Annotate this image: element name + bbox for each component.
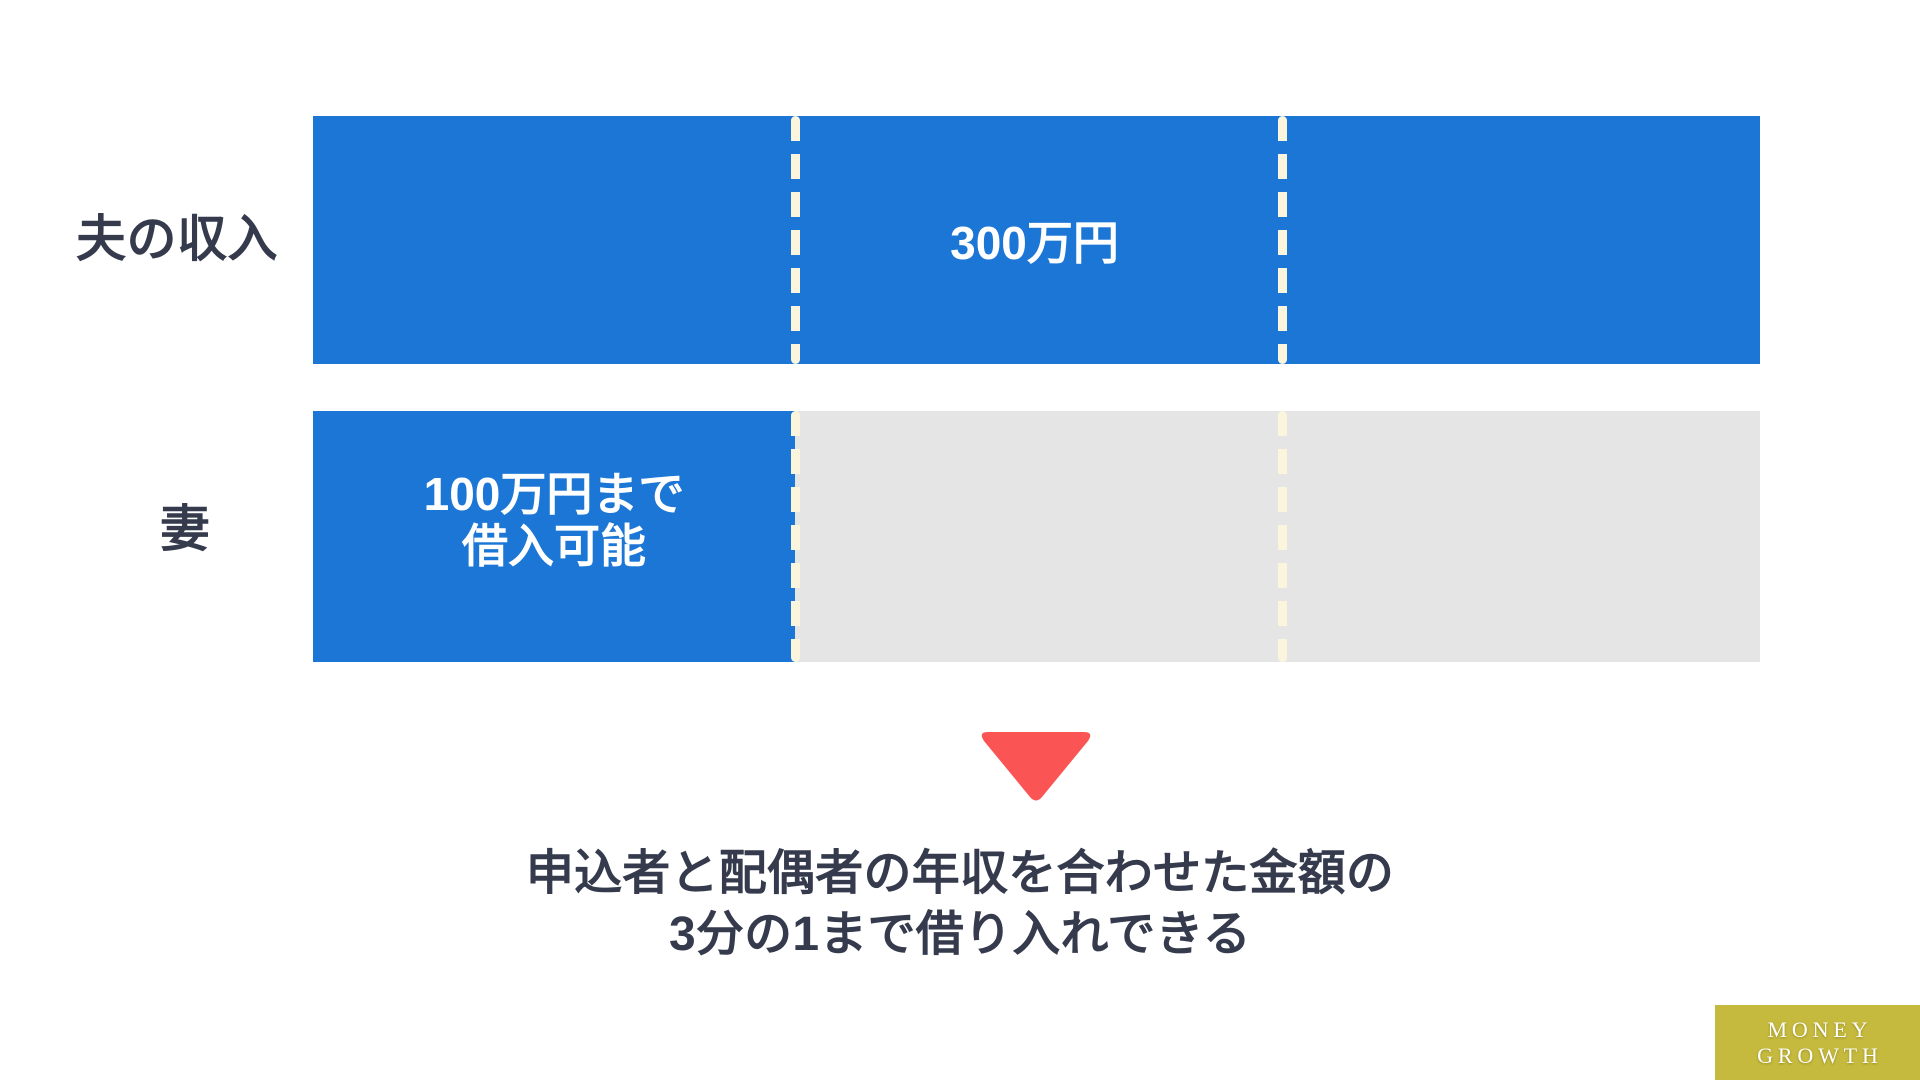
brand-logo-line-1: MONEY bbox=[1763, 1019, 1873, 1041]
bar-wife-fill bbox=[313, 411, 795, 662]
brand-logo: MONEY GROWTH bbox=[1715, 1005, 1920, 1080]
down-triangle-icon bbox=[978, 728, 1094, 802]
caption-text: 申込者と配偶者の年収を合わせた金額の 3分の1まで借り入れできる bbox=[0, 843, 1920, 966]
bar-value-husband: 300万円 bbox=[791, 218, 1278, 270]
figure-canvas: 夫の収入 300万円 妻 100万円まで 借入可能 申込者と配偶者の年収を合わせ… bbox=[0, 0, 1920, 1080]
caption-line-1: 申込者と配偶者の年収を合わせた金額の bbox=[0, 843, 1920, 904]
divider-dashed-second bbox=[1278, 116, 1287, 364]
divider-dashed-second-row2 bbox=[1278, 411, 1287, 662]
bar-husband-income: 300万円 bbox=[313, 116, 1760, 364]
divider-dashed-first-row2 bbox=[791, 411, 800, 662]
brand-logo-line-2: GROWTH bbox=[1752, 1045, 1882, 1067]
row-label-husband: 夫の収入 bbox=[76, 214, 278, 264]
caption-line-2: 3分の1まで借り入れできる bbox=[0, 904, 1920, 965]
bar-wife-borrowable: 100万円まで 借入可能 bbox=[313, 411, 1760, 662]
divider-dashed-first bbox=[791, 116, 800, 364]
row-label-wife: 妻 bbox=[160, 504, 211, 554]
